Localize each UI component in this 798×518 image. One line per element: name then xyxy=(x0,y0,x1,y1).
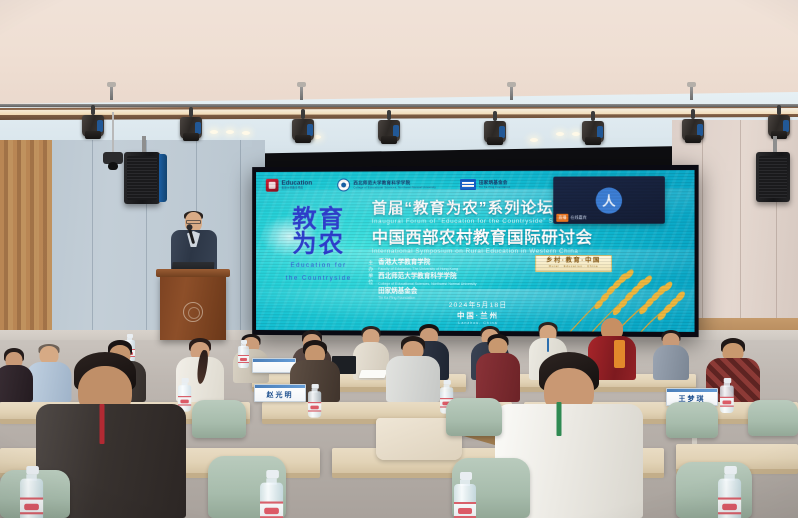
audience-lanyard xyxy=(547,338,549,352)
ceiling-camera-pole xyxy=(112,112,114,156)
tin-ka-ping-foundation-logo: 田家炳基金会 Tin Ka Ping Foundation xyxy=(460,179,510,190)
name-placard-left: 赵光明 xyxy=(254,384,306,402)
conference-chair xyxy=(748,400,798,436)
ceiling-downlight xyxy=(313,135,321,139)
audience-member xyxy=(0,348,34,402)
stage-spotlight xyxy=(82,112,104,142)
organizers-block: 主办单位 香港大学教育学院 Faculty of Education, The … xyxy=(366,259,477,302)
audience-member xyxy=(652,330,690,380)
logo-nwnu-en: College of Educational Sciences, Northwe… xyxy=(353,186,436,189)
audience-torso xyxy=(0,365,33,402)
ceiling-camera-lens xyxy=(108,162,118,170)
event-location-cn: 中国·兰州 xyxy=(403,310,553,321)
logo-hku-cn: 香港大學教育學院 xyxy=(281,187,312,190)
organizers-label: 主办单位 xyxy=(366,259,373,302)
ceiling-downlight xyxy=(226,130,234,134)
led-display-screen: Education 香港大學教育學院 西北师范大学教育科学学院 College … xyxy=(252,165,698,337)
live-badge-name: 在线嘉宾 xyxy=(570,215,586,221)
organizer-item: 香港大学教育学院 Faculty of Education, The Unive… xyxy=(378,259,476,272)
wooden-podium xyxy=(160,274,226,340)
event-date: 2024年5月18日 xyxy=(403,301,553,311)
mark-en-line1: Education for xyxy=(272,261,366,270)
audience-lanyard xyxy=(100,404,105,444)
event-logo-mark: 教育 为农 Education for the Countryside xyxy=(272,207,366,283)
organizer-item: 西北师范大学教育科学学院 College of Educational Scie… xyxy=(378,273,476,286)
organizer-cn: 田家炳基金会 xyxy=(378,288,476,296)
stage-spotlight xyxy=(768,112,790,142)
video-call-window[interactable]: 人 直播 在线嘉宾 xyxy=(553,176,665,224)
pa-loudspeaker xyxy=(756,152,790,202)
audience-torso xyxy=(386,356,440,402)
audience-member xyxy=(386,336,440,402)
conference-hall-photo: Education 香港大學教育學院 西北师范大学教育科学学院 College … xyxy=(0,0,798,518)
headline-cn-symposium: 中国西部农村教育国际研讨会 xyxy=(372,229,673,247)
conference-chair xyxy=(446,398,502,436)
led-screen-content: Education 香港大學教育學院 西北师范大学教育科学学院 College … xyxy=(256,170,694,332)
stage-spotlight xyxy=(484,118,506,148)
stage-spotlight xyxy=(682,116,704,146)
conference-chair xyxy=(192,400,246,438)
organizer-cn: 香港大学教育学院 xyxy=(378,259,476,267)
hku-faculty-education-logo: Education 香港大學教育學院 xyxy=(266,179,312,192)
placard-text xyxy=(270,363,277,371)
stage-spotlight xyxy=(582,118,604,148)
live-badge: 直播 在线嘉宾 xyxy=(556,214,586,222)
placard-text-left: 赵光明 xyxy=(267,390,294,400)
lighting-truss xyxy=(0,100,798,112)
ceiling-downlight xyxy=(210,130,218,134)
logo-tkp-en: Tin Ka Ping Foundation xyxy=(479,186,510,189)
stage-spotlight xyxy=(180,114,202,144)
organizers-label-cn: 主办单位 xyxy=(367,260,373,286)
nwnu-college-logo: 西北师范大学教育科学学院 College of Educational Scie… xyxy=(338,178,436,191)
mark-cn-line2: 为农 xyxy=(272,232,366,257)
pa-loudspeaker xyxy=(124,152,160,204)
left-wall-wood-slats xyxy=(0,140,52,350)
ceiling-downlight xyxy=(242,131,250,135)
nwnu-seal-icon xyxy=(338,179,351,192)
live-badge-chip: 直播 xyxy=(556,214,568,222)
ceiling-downlight xyxy=(572,132,580,136)
mark-en-line2: the Countryside xyxy=(272,274,366,283)
audience-torso xyxy=(653,345,689,380)
audience-lanyard xyxy=(556,402,561,436)
handout-paper xyxy=(359,370,388,378)
ceiling-downlight xyxy=(556,132,564,136)
organizer-item: 田家炳基金会 Tin Ka Ping Foundation xyxy=(378,288,476,301)
conference-chair xyxy=(666,402,718,438)
podium-top-surface xyxy=(156,269,230,277)
organizer-en: College of Educational Sciences, Northwe… xyxy=(378,281,476,286)
mark-cn-line1: 教育 xyxy=(272,207,366,232)
ceiling-downlight xyxy=(530,138,538,142)
tkp-mark-icon xyxy=(460,179,476,190)
podium-emblem xyxy=(183,302,203,322)
participant-avatar: 人 xyxy=(596,187,622,213)
organizer-en: Faculty of Education, The University of … xyxy=(378,267,476,272)
stage-spotlight xyxy=(292,116,314,146)
organizer-cn: 西北师范大学教育科学学院 xyxy=(378,273,476,281)
hku-crest-icon xyxy=(266,179,279,192)
stage-spotlight xyxy=(378,117,400,147)
